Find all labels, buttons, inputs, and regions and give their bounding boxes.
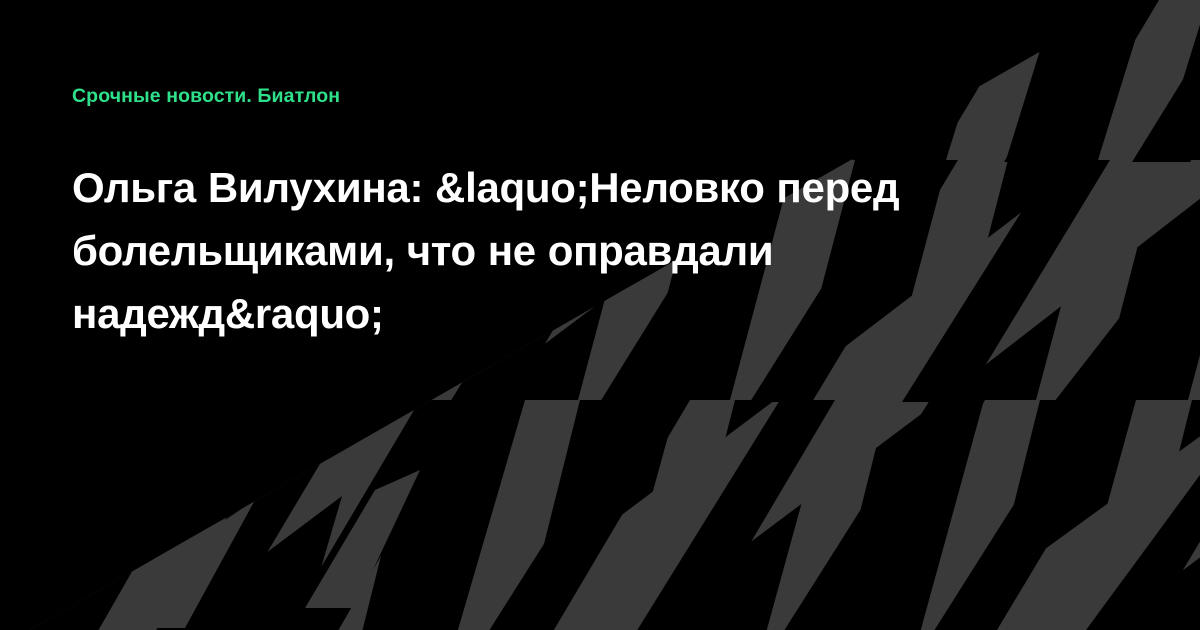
social-share-card: Срочные новости. Биатлон Ольга Вилухина:…: [0, 0, 1200, 630]
headline: Ольга Вилухина: &laquo;Неловко перед бол…: [72, 156, 1072, 345]
card-content: Срочные новости. Биатлон Ольга Вилухина:…: [0, 0, 1200, 630]
category-label: Срочные новости. Биатлон: [72, 84, 1128, 108]
